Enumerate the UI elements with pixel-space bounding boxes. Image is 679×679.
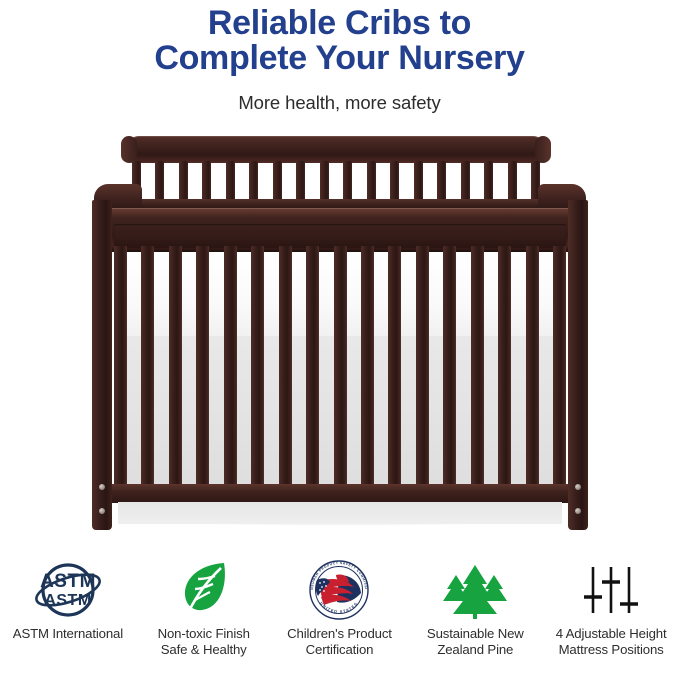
badge-cpsc-label: Children's Product Certification [287,626,392,657]
badge-adjustable-height: 4 Adjustable Height Mattress Positions [543,556,679,679]
badge-cpsc: CONSUMER PRODUCT SAFETY COMMISSION UNITE… [272,556,408,679]
screw-cap [99,508,105,514]
page-title-line-2: Complete Your Nursery [60,41,620,76]
front-slat [141,246,154,488]
front-slat [471,246,484,488]
front-slats [114,246,566,488]
height-sliders-icon [579,556,643,624]
headboard-spindle [249,161,258,203]
leaf-icon [174,556,234,624]
crib-illustration [88,136,592,541]
headboard-spindle [484,161,493,203]
front-slat [306,246,319,488]
under-skirt-panel [118,502,562,524]
front-slat [114,246,127,488]
headboard-spindle [320,161,329,203]
front-slat [416,246,429,488]
headboard-spindle [390,161,399,203]
screw-cap [575,484,581,490]
product-image [0,128,679,546]
headboard-spindle [273,161,282,203]
headboard-spindle [367,161,376,203]
headboard-spindle [461,161,470,203]
front-bottom-rail [104,484,576,503]
headboard-spindle [155,161,164,203]
front-slat [361,246,374,488]
header: Reliable Cribs to Complete Your Nursery … [0,0,679,114]
badge-non-toxic: Non-toxic Finish Safe & Healthy [136,556,272,679]
headboard-spindle [414,161,423,203]
badge-pine: Sustainable New Zealand Pine [407,556,543,679]
badge-adjustable-height-label: 4 Adjustable Height Mattress Positions [556,626,667,657]
headboard-spindle [508,161,517,203]
headboard-spindles [132,161,540,203]
front-slat [443,246,456,488]
headboard-spindle [202,161,211,203]
screw-cap [99,484,105,490]
front-slat [251,246,264,488]
front-slat [169,246,182,488]
screw-cap [575,508,581,514]
page-title-line-1: Reliable Cribs to [60,6,620,41]
badge-pine-label: Sustainable New Zealand Pine [427,626,524,657]
pine-trees-icon [435,556,515,624]
headboard-spindle [179,161,188,203]
front-slat [553,246,566,488]
headboard-top-rail [126,136,546,163]
headboard-spindle [437,161,446,203]
astm-logo-icon: ASTM ASTM [31,556,105,624]
badge-non-toxic-label: Non-toxic Finish Safe & Healthy [158,626,250,657]
cpsc-seal-icon: CONSUMER PRODUCT SAFETY COMMISSION UNITE… [306,556,372,624]
page-subtitle: More health, more safety [0,92,679,114]
front-slat [498,246,511,488]
front-slat [224,246,237,488]
badge-astm: ASTM ASTM ASTM International [0,556,136,679]
front-slat [526,246,539,488]
feature-badge-row: ASTM ASTM ASTM International Non-toxic F… [0,556,679,679]
front-slat [334,246,347,488]
front-slat [196,246,209,488]
headboard-spindle [343,161,352,203]
front-slat [279,246,292,488]
headboard-spindle [226,161,235,203]
corner-post-right [568,200,588,530]
front-slat [388,246,401,488]
headboard-spindle [296,161,305,203]
page-title: Reliable Cribs to Complete Your Nursery [60,6,620,76]
badge-astm-label: ASTM International [13,626,123,642]
corner-post-left [92,200,112,530]
